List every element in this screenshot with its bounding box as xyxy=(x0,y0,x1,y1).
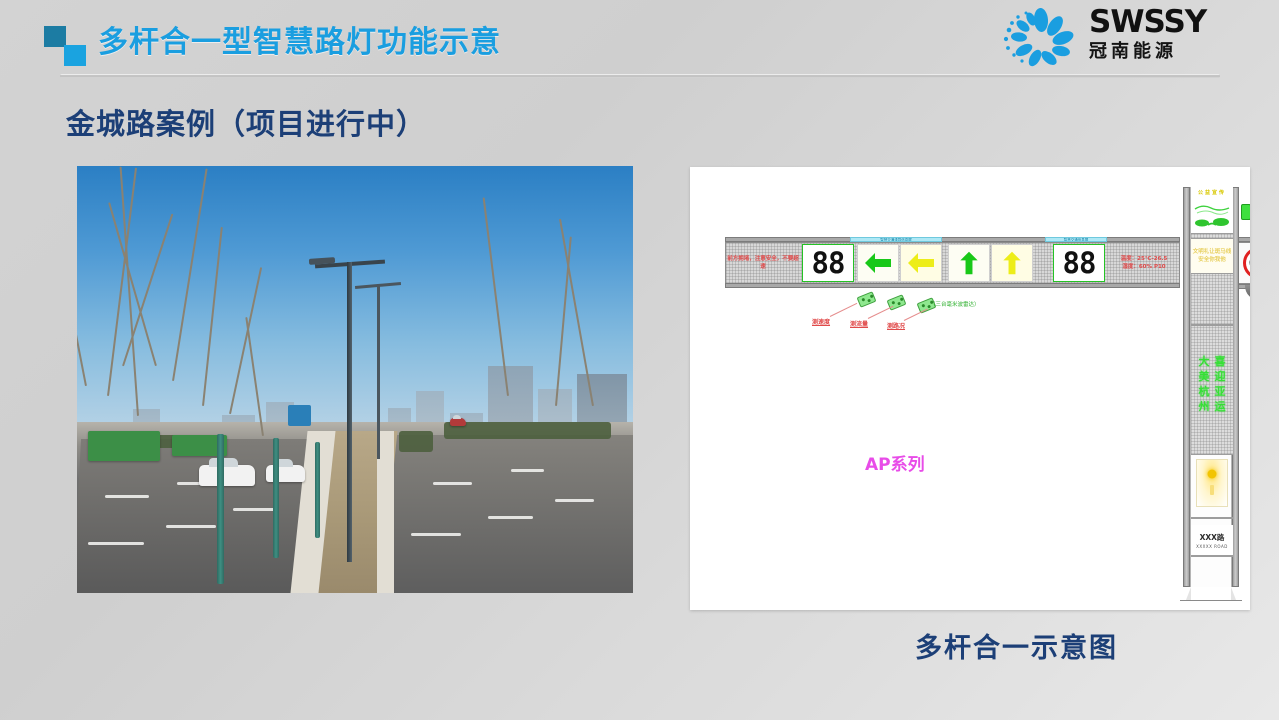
radar-label-speed: 测速度 xyxy=(812,317,830,326)
pole-seg-mesh xyxy=(1191,273,1233,325)
pole-warning-light-panel xyxy=(1196,459,1228,507)
header-divider xyxy=(60,74,1220,78)
pole-seg-line xyxy=(1191,517,1233,519)
led-char: 迎 xyxy=(1215,371,1226,383)
smart-pole: 公益宣传 文明礼让斑马线 安全你我他 大 美 杭 xyxy=(1183,187,1239,597)
ap-series-label: AP系列 xyxy=(865,450,925,475)
water-droplet-flower-icon xyxy=(997,6,1083,68)
gantry-header-strip-1: 智慧交通诱导信息屏 xyxy=(850,237,942,242)
photo-car-red xyxy=(450,418,467,427)
page-header: 多杆合一型智慧路灯功能示意 SWSSY xyxy=(0,0,1279,78)
led-char: 杭 xyxy=(1199,386,1210,398)
warning-light-icon xyxy=(1208,469,1217,478)
temperature-readout: 温度：25℃-26.5 xyxy=(1121,255,1168,263)
page-title: 多杆合一型智慧路灯功能示意 xyxy=(98,17,501,61)
countdown-digits-right: 88 xyxy=(1063,249,1096,278)
arrow-up-icon xyxy=(997,250,1027,276)
street-name-english: XXXXX ROAD xyxy=(1196,544,1228,549)
square-dark-icon xyxy=(44,26,66,47)
warning-light-stem xyxy=(1210,485,1214,495)
pole-scenery-display xyxy=(1191,197,1233,233)
dome-camera-icon xyxy=(1245,285,1250,300)
pole-seg-line xyxy=(1191,555,1233,557)
gantry-bottom-rail xyxy=(725,283,1180,288)
led-char: 美 xyxy=(1199,371,1210,383)
header-decoration-squares xyxy=(44,26,88,66)
photo-road-right xyxy=(383,435,633,593)
led-column-left: 大 美 杭 州 xyxy=(1199,356,1210,413)
led-char: 大 xyxy=(1199,356,1210,368)
arrow-up-icon xyxy=(954,250,984,276)
radar-note: （三台毫米波雷达） xyxy=(930,300,980,308)
photo-streetlamp-pole-2 xyxy=(377,284,380,459)
radar-label-flow: 测流量 xyxy=(850,319,868,328)
street-name-chinese: XXX路 xyxy=(1200,532,1225,543)
photo-truck xyxy=(88,431,160,461)
photo-tree-trunk xyxy=(315,442,320,538)
gantry-message-panel: 前方拥堵，注意安全，不要超速 xyxy=(727,244,799,282)
led-char: 喜 xyxy=(1215,356,1226,368)
radar-label-condition: 测路况 xyxy=(887,321,905,330)
countdown-display-left: 88 xyxy=(802,244,854,282)
photo-tree-trunk xyxy=(217,434,224,584)
lane-arrow-left-green xyxy=(857,244,899,282)
pole-foot-right xyxy=(1231,587,1236,600)
multi-pole-schematic-diagram: 智慧交通诱导信息屏 智慧交通信息屏 前方拥堵，注意安全，不要超速 88 88 温… xyxy=(690,167,1250,610)
pole-body: 公益宣传 文明礼让斑马线 安全你我他 大 美 杭 xyxy=(1190,187,1232,587)
led-char: 亚 xyxy=(1215,386,1226,398)
logo-wordmark: SWSSY xyxy=(1089,6,1206,38)
arrow-left-icon xyxy=(863,250,893,276)
photo-car-white xyxy=(266,465,305,482)
street-name-plate: XXX路 XXXXX ROAD xyxy=(1191,525,1233,555)
environment-readout-panel: 温度：25℃-26.5 湿度：60% P10 xyxy=(1108,244,1180,282)
led-char: 州 xyxy=(1199,401,1210,413)
lane-arrow-up-yellow xyxy=(991,244,1033,282)
diagram-caption: 多杆合一示意图 xyxy=(915,626,1118,665)
countdown-display-right: 88 xyxy=(1053,244,1105,282)
section-subtitle: 金城路案例（项目进行中） xyxy=(66,101,426,143)
landscape-graphic-icon xyxy=(1191,197,1233,233)
pole-rail-right xyxy=(1232,187,1239,587)
logo-text-block: SWSSY 冠南能源 xyxy=(1089,6,1206,64)
pole-base xyxy=(1180,587,1242,601)
pole-banner-text: 文明礼让斑马线 安全你我他 xyxy=(1191,239,1233,273)
pole-foot-left xyxy=(1186,587,1191,600)
pole-rail-left xyxy=(1183,187,1190,587)
lane-arrow-up-green xyxy=(948,244,990,282)
humidity-readout: 湿度：60% P10 xyxy=(1122,263,1165,271)
lane-arrow-left-yellow xyxy=(900,244,942,282)
led-column-right: 喜 迎 亚 运 xyxy=(1215,356,1226,413)
pole-led-text: 大 美 杭 州 喜 迎 亚 运 xyxy=(1191,327,1233,442)
pole-top-strip-label: 公益宣传 xyxy=(1191,187,1233,197)
led-char: 运 xyxy=(1215,401,1226,413)
radar-sensor-icon xyxy=(857,291,877,308)
photo-streetlamp-pole xyxy=(347,262,352,562)
company-logo: SWSSY 冠南能源 xyxy=(997,4,1247,70)
photo-road-sign xyxy=(288,405,310,426)
streetscape-photo xyxy=(77,166,633,593)
logo-chinese-name: 冠南能源 xyxy=(1089,40,1206,64)
square-light-icon xyxy=(64,45,86,66)
arrow-left-icon xyxy=(906,250,936,276)
gantry-header-strip-2: 智慧交通信息屏 xyxy=(1045,237,1107,242)
photo-tree-trunk xyxy=(273,438,279,558)
photo-car-white xyxy=(199,465,255,486)
countdown-digits-left: 88 xyxy=(812,249,845,278)
